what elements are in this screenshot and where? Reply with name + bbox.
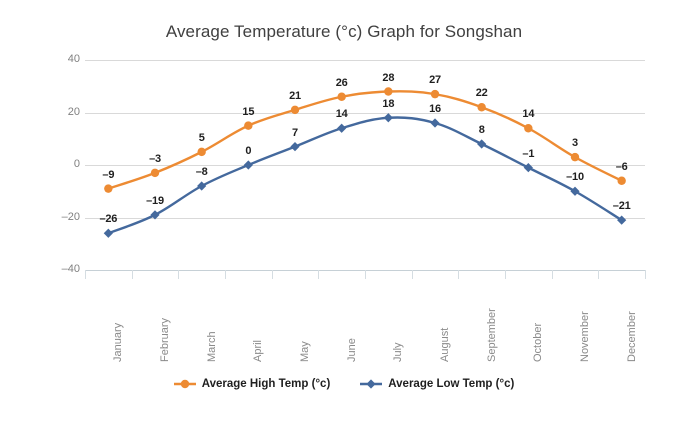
data-label: –19 [146,195,164,207]
data-point-marker[interactable] [524,163,533,172]
series-line-low [108,117,621,233]
legend-item-low[interactable]: Average Low Temp (°c) [360,378,514,390]
data-label: –6 [616,161,628,173]
data-point-marker[interactable] [197,148,205,156]
data-point-marker[interactable] [244,121,252,129]
data-point-marker[interactable] [104,229,113,238]
series-line-high [108,91,621,188]
data-point-marker[interactable] [431,90,439,98]
temperature-line-chart: Average Temperature (°c) Graph for Songs… [0,0,688,424]
data-label: 22 [476,87,488,99]
data-label: –9 [102,169,114,181]
series-layer [0,0,688,424]
data-point-marker[interactable] [430,118,439,127]
data-label: 3 [572,137,578,149]
data-point-marker[interactable] [524,124,532,132]
data-label: –21 [613,200,631,212]
data-point-marker[interactable] [150,210,159,219]
legend-item-high[interactable]: Average High Temp (°c) [174,378,331,390]
data-label: 21 [289,90,301,102]
data-label: –3 [149,153,161,165]
data-label: 8 [479,124,485,136]
data-label: –8 [196,166,208,178]
data-point-marker[interactable] [337,124,346,133]
data-label: 14 [336,108,348,120]
data-point-marker[interactable] [151,169,159,177]
legend-diamond-marker-icon [360,378,382,390]
data-point-marker[interactable] [244,160,253,169]
data-label: 0 [245,145,251,157]
data-point-marker[interactable] [290,142,299,151]
legend-label: Average Low Temp (°c) [388,378,514,390]
data-label: 28 [382,72,394,84]
data-point-marker[interactable] [104,184,112,192]
data-point-marker[interactable] [337,93,345,101]
data-label: 16 [429,103,441,115]
legend-circle-marker-icon [174,378,196,390]
data-point-marker[interactable] [617,177,625,185]
data-point-marker[interactable] [291,106,299,114]
data-point-marker[interactable] [477,139,486,148]
data-label: 14 [522,108,534,120]
data-label: 18 [382,98,394,110]
data-label: –26 [99,213,117,225]
data-label: 27 [429,74,441,86]
data-label: –10 [566,171,584,183]
data-label: 5 [199,132,205,144]
data-label: 26 [336,77,348,89]
data-point-marker[interactable] [571,153,579,161]
data-label: –1 [522,148,534,160]
data-label: 15 [242,106,254,118]
data-point-marker[interactable] [384,87,392,95]
data-label: 7 [292,127,298,139]
data-point-marker[interactable] [384,113,393,122]
data-point-marker[interactable] [197,181,206,190]
data-point-marker[interactable] [477,103,485,111]
chart-legend: Average High Temp (°c)Average Low Temp (… [0,378,688,390]
legend-label: Average High Temp (°c) [202,378,331,390]
